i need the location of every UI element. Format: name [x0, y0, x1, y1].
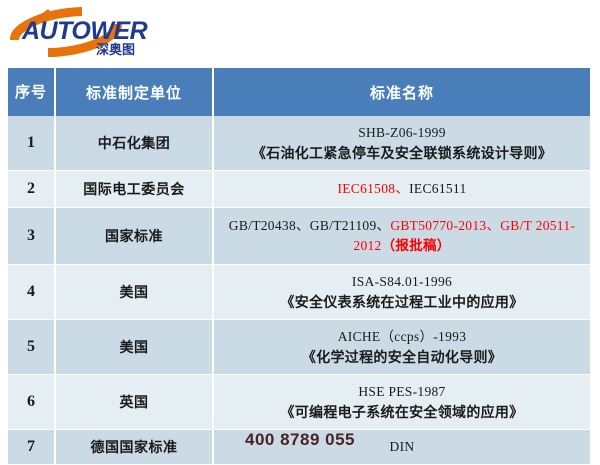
row-organization: 国际电工委员会 [55, 171, 213, 208]
standard-code: IEC61511 [409, 181, 466, 196]
standard-title: 《化学过程的安全自动化导则》 [218, 347, 586, 367]
row-number: 2 [8, 171, 55, 208]
table-row: 6 英国 HSE PES-1987 《可编程电子系统在安全领域的应用》 [8, 375, 590, 430]
row-standard-name: AICHE（ccps）-1993 《化学过程的安全自动化导则》 [213, 320, 590, 375]
row-organization: 中石化集团 [55, 116, 213, 171]
contact-phone-number: 400 8789 055 [0, 430, 600, 450]
column-header-no: 序号 [8, 68, 55, 116]
row-organization: 美国 [55, 320, 213, 375]
row-number: 3 [8, 208, 55, 265]
standard-code: AICHE（ccps）-1993 [218, 327, 586, 347]
company-logo: AUTOWER 深奥图 [8, 6, 168, 58]
column-header-org: 标准制定单位 [55, 68, 213, 116]
row-organization: 美国 [55, 265, 213, 320]
row-number: 4 [8, 265, 55, 320]
standard-code: GB/T20438、GB/T21109、 [229, 218, 391, 233]
row-standard-name: GB/T20438、GB/T21109、GBT50770-2013、GB/T 2… [213, 208, 590, 265]
table-row: 3 国家标准 GB/T20438、GB/T21109、GBT50770-2013… [8, 208, 590, 265]
row-number: 6 [8, 375, 55, 430]
row-standard-name: HSE PES-1987 《可编程电子系统在安全领域的应用》 [213, 375, 590, 430]
logo-subbrand: 深奥图 [96, 42, 135, 58]
standards-table: 序号 标准制定单位 标准名称 1 中石化集团 SHB-Z06-1999 《石油化… [8, 68, 590, 465]
row-organization: 国家标准 [55, 208, 213, 265]
standard-code: ISA-S84.01-1996 [218, 272, 586, 292]
row-number: 5 [8, 320, 55, 375]
standard-title: 《可编程电子系统在安全领域的应用》 [218, 402, 586, 422]
standard-code: SHB-Z06-1999 [218, 123, 586, 143]
logo-graphic: AUTOWER 深奥图 [8, 6, 168, 58]
standard-status-note: （报批稿） [382, 238, 451, 253]
standard-title: 《石油化工紧急停车及安全联锁系统设计导则》 [218, 143, 586, 163]
table-row: 1 中石化集团 SHB-Z06-1999 《石油化工紧急停车及安全联锁系统设计导… [8, 116, 590, 171]
table-row: 2 国际电工委员会 IEC61508、IEC61511 [8, 171, 590, 208]
row-organization: 英国 [55, 375, 213, 430]
table-row: 5 美国 AICHE（ccps）-1993 《化学过程的安全自动化导则》 [8, 320, 590, 375]
standard-code: HSE PES-1987 [218, 382, 586, 402]
column-header-name: 标准名称 [213, 68, 590, 116]
table-row: 4 美国 ISA-S84.01-1996 《安全仪表系统在过程工业中的应用》 [8, 265, 590, 320]
table-header-row: 序号 标准制定单位 标准名称 [8, 68, 590, 116]
logo-wordmark: AUTOWER [21, 17, 148, 45]
row-number: 1 [8, 116, 55, 171]
row-standard-name: ISA-S84.01-1996 《安全仪表系统在过程工业中的应用》 [213, 265, 590, 320]
standard-code-highlighted: IEC61508、 [337, 181, 409, 196]
row-standard-name: IEC61508、IEC61511 [213, 171, 590, 208]
standard-title: 《安全仪表系统在过程工业中的应用》 [218, 292, 586, 312]
row-standard-name: SHB-Z06-1999 《石油化工紧急停车及安全联锁系统设计导则》 [213, 116, 590, 171]
